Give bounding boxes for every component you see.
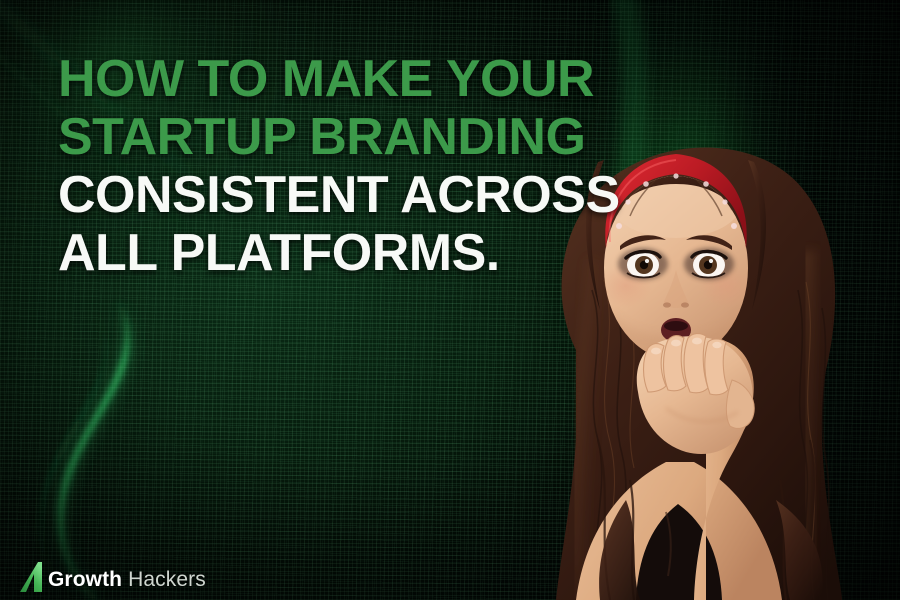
logo-wordmark: GrowthHackers xyxy=(48,569,206,594)
growth-arrow-icon xyxy=(20,560,46,594)
headline-line-2: STARTUP BRANDING xyxy=(58,108,658,166)
brand-logo[interactable]: GrowthHackers xyxy=(20,560,206,594)
headline-line-4: ALL PLATFORMS. xyxy=(58,224,658,282)
logo-word-growth: Growth xyxy=(48,568,122,591)
logo-word-hackers: Hackers xyxy=(128,568,206,591)
headline-block: HOW TO MAKE YOUR STARTUP BRANDING CONSIS… xyxy=(58,50,658,282)
headline-line-3: CONSISTENT ACROSS xyxy=(58,166,658,224)
headline-line-1: HOW TO MAKE YOUR xyxy=(58,50,658,108)
marketing-banner: HOW TO MAKE YOUR STARTUP BRANDING CONSIS… xyxy=(0,0,900,600)
